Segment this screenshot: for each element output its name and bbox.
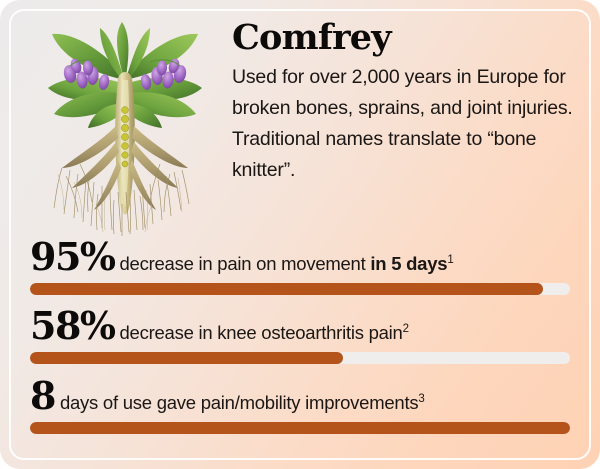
- progress-track: [30, 352, 570, 364]
- stat-label: decrease in knee osteoarthritis pain2: [115, 318, 409, 344]
- headline-block: Comfrey Used for over 2,000 years in Eur…: [232, 18, 580, 186]
- progress-fill: [30, 422, 570, 434]
- progress-fill: [30, 283, 543, 295]
- footnote-marker: 3: [418, 393, 424, 405]
- stat-label-emphasis: in 5 days: [370, 253, 447, 274]
- stat-row: 58% decrease in knee osteoarthritis pain…: [30, 307, 570, 364]
- header-section: Comfrey Used for over 2,000 years in Eur…: [0, 0, 600, 238]
- progress-track: [30, 422, 570, 434]
- stat-label: decrease in pain on movement in 5 days1: [115, 249, 454, 275]
- footnote-marker: 1: [447, 254, 453, 266]
- description-text: Used for over 2,000 years in Europe for …: [232, 62, 580, 186]
- stat-value: 58%: [30, 307, 115, 345]
- stat-label-text: decrease in pain on movement: [120, 253, 371, 274]
- comfrey-info-card: Comfrey Used for over 2,000 years in Eur…: [0, 0, 600, 469]
- progress-track: [30, 283, 570, 295]
- stat-label-text: decrease in knee osteoarthritis pain: [120, 322, 403, 343]
- stat-line: 8 days of use gave pain/mobility improve…: [30, 377, 570, 417]
- stat-label-text: days of use gave pain/mobility improveme…: [60, 392, 418, 413]
- stat-row: 95% decrease in pain on movement in 5 da…: [30, 238, 570, 295]
- stat-line: 58% decrease in knee osteoarthritis pain…: [30, 307, 570, 347]
- stat-label: days of use gave pain/mobility improveme…: [55, 388, 425, 414]
- progress-fill: [30, 352, 343, 364]
- stat-line: 95% decrease in pain on movement in 5 da…: [30, 238, 570, 278]
- stat-value: 8: [30, 377, 55, 415]
- footnote-marker: 2: [403, 323, 409, 335]
- comfrey-plant-illustration: [30, 18, 220, 236]
- stat-value: 95%: [30, 238, 115, 276]
- stat-row: 8 days of use gave pain/mobility improve…: [30, 377, 570, 434]
- page-title: Comfrey: [232, 18, 580, 58]
